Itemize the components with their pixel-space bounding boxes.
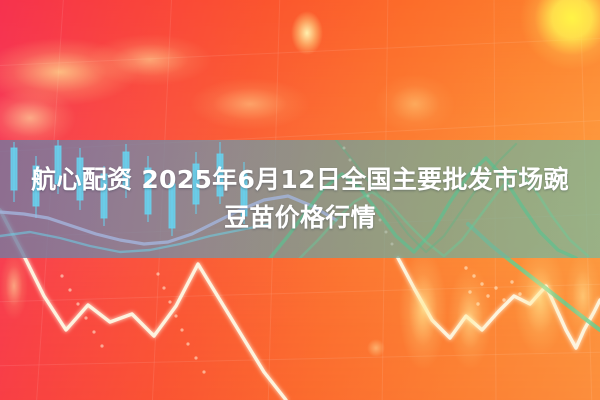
market-price-banner: 航心配资 2025年6月12日全国主要批发市场豌 豆苗价格行情 <box>0 0 600 400</box>
banner-title: 航心配资 2025年6月12日全国主要批发市场豌 豆苗价格行情 <box>0 140 600 258</box>
title-line-1: 航心配资 2025年6月12日全国主要批发市场豌 <box>31 163 569 197</box>
title-line-2: 豆苗价格行情 <box>224 201 376 235</box>
scatter-dots <box>60 266 521 373</box>
white-line-lower-right <box>398 258 600 348</box>
